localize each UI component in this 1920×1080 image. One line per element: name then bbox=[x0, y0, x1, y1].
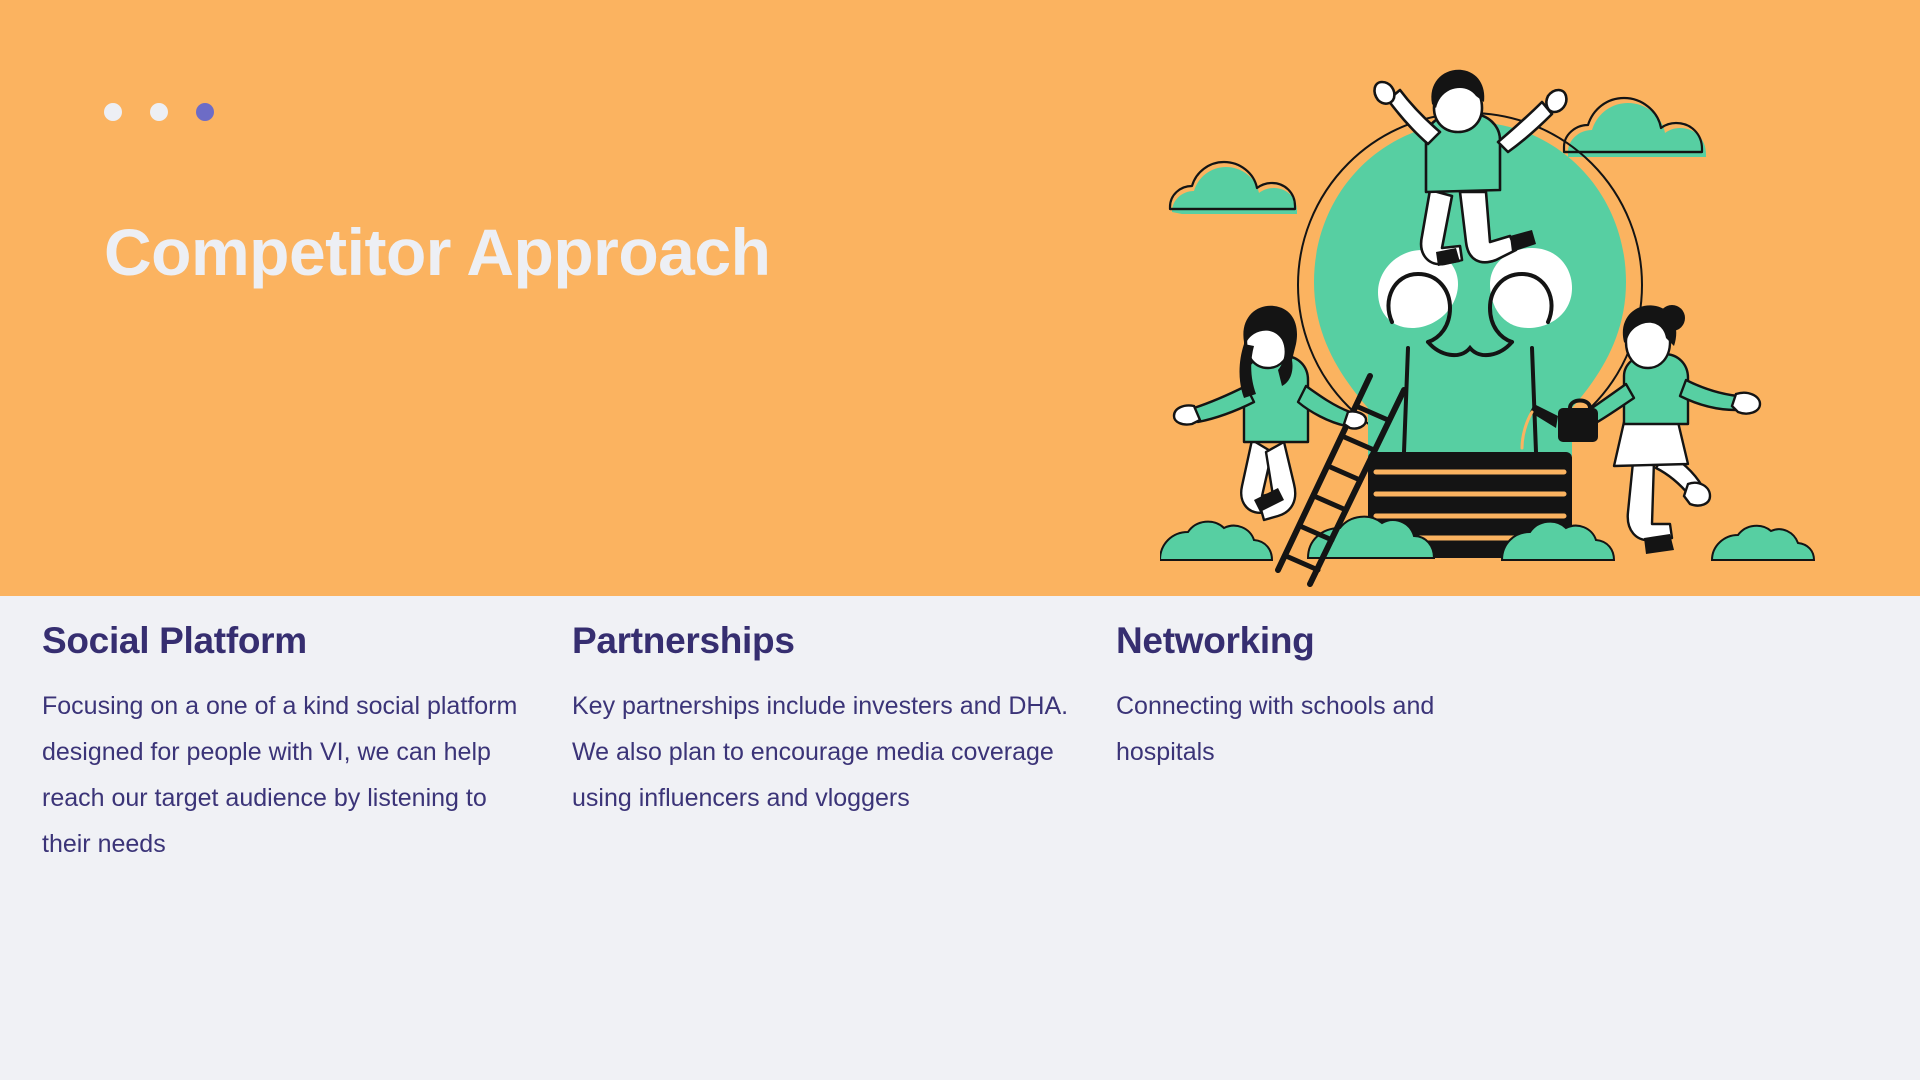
page-title: Competitor Approach bbox=[104, 216, 770, 289]
column-heading-partnerships: Partnerships bbox=[572, 620, 1094, 661]
column-heading-social-platform: Social Platform bbox=[42, 620, 536, 661]
slide-progress-dots[interactable] bbox=[104, 103, 214, 121]
column-partnerships: Partnerships Key partnerships include in… bbox=[536, 620, 1094, 821]
progress-dot-3-active[interactable] bbox=[196, 103, 214, 121]
column-networking: Networking Connecting with schools and h… bbox=[1094, 620, 1654, 775]
header-band bbox=[0, 0, 1920, 596]
slide-canvas: Competitor Approach bbox=[0, 0, 1920, 1080]
column-body-partnerships: Key partnerships include investers and D… bbox=[572, 683, 1094, 821]
column-body-networking: Connecting with schools and hospitals bbox=[1116, 683, 1516, 775]
progress-dot-2[interactable] bbox=[150, 103, 168, 121]
column-social-platform: Social Platform Focusing on a one of a k… bbox=[0, 620, 536, 867]
progress-dot-1[interactable] bbox=[104, 103, 122, 121]
column-body-social-platform: Focusing on a one of a kind social platf… bbox=[42, 683, 536, 867]
column-heading-networking: Networking bbox=[1116, 620, 1654, 661]
content-columns: Social Platform Focusing on a one of a k… bbox=[0, 620, 1920, 867]
